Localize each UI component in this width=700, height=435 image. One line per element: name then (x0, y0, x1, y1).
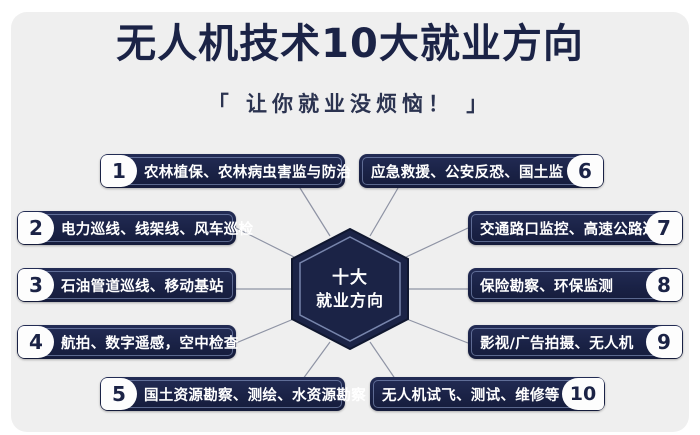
item-label: 石油管道巡线、移动基站 (61, 275, 224, 296)
center-line-1: 十大 (332, 267, 368, 290)
item-pill-1[interactable]: 1 农林植保、农林病虫害监与防治 (100, 154, 345, 188)
item-pill-2[interactable]: 2 电力巡线、线架线、风车巡检 (17, 211, 236, 245)
item-label: 保险勘察、环保监测 (480, 275, 613, 296)
item-number-badge: 4 (18, 326, 54, 358)
item-label: 航拍、数字遥感，空中检查 (61, 332, 239, 353)
item-label: 国土资源勘察、测绘、水资源勘察 (144, 384, 366, 405)
item-pill-6[interactable]: 6 应急救援、公安反恐、国土监 (359, 154, 604, 188)
item-number-badge: 7 (646, 212, 682, 244)
item-number-badge: 1 (101, 155, 137, 187)
item-label: 交通路口监控、高速公路巡查 (480, 218, 672, 239)
infographic-root: 无人机技术10大就业方向 「 让你就业没烦恼！ 」 十大 就业方向 (0, 0, 700, 435)
item-pill-8[interactable]: 8 保险勘察、环保监测 (468, 268, 683, 302)
item-label: 影视/广告拍摄、无人机 (480, 332, 634, 353)
item-number-badge: 3 (18, 269, 54, 301)
center-line-2: 就业方向 (316, 290, 384, 312)
item-label: 应急救援、公安反恐、国土监 (371, 161, 563, 182)
item-number-badge: 10 (562, 378, 604, 410)
item-number-badge: 5 (101, 378, 137, 410)
item-pill-5[interactable]: 5 国土资源勘察、测绘、水资源勘察 (100, 377, 345, 411)
item-label: 农林植保、农林病虫害监与防治 (144, 161, 351, 182)
item-pill-7[interactable]: 7 交通路口监控、高速公路巡查 (468, 211, 683, 245)
item-label: 电力巡线、线架线、风车巡检 (61, 218, 253, 239)
item-number-badge: 6 (567, 155, 603, 187)
center-hexagon-label: 十大 就业方向 (291, 228, 409, 350)
item-number-badge: 8 (646, 269, 682, 301)
item-number-badge: 2 (18, 212, 54, 244)
item-pill-9[interactable]: 9 影视/广告拍摄、无人机 (468, 325, 683, 359)
item-pill-10[interactable]: 10 无人机试飞、测试、维修等 (370, 377, 605, 411)
item-label: 无人机试飞、测试、维修等 (382, 384, 560, 405)
item-pill-4[interactable]: 4 航拍、数字遥感，空中检查 (17, 325, 236, 359)
item-number-badge: 9 (646, 326, 682, 358)
item-pill-3[interactable]: 3 石油管道巡线、移动基站 (17, 268, 236, 302)
center-hexagon: 十大 就业方向 (291, 228, 409, 350)
